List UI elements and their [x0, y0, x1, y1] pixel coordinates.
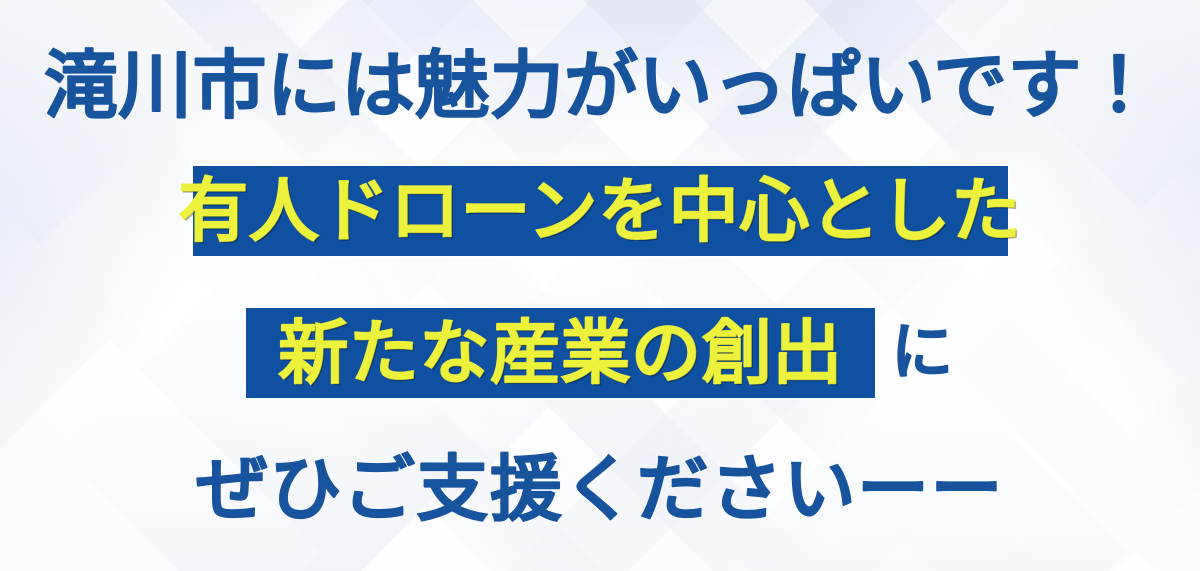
headline-line-3: 新たな産業の創出 に [246, 294, 954, 412]
headline-line-3-particle: に [891, 322, 954, 384]
promo-banner: 滝川市には魅力がいっぱいです！ 有人ドローンを中心とした 新たな産業の創出 に … [0, 0, 1200, 571]
headline-line-2-text: 有人ドローンを中心とした [178, 176, 1021, 246]
headline-line-4-text: ぜひご支援くださいーー [196, 454, 1004, 526]
headline-line-1: 滝川市には魅力がいっぱいです！ [44, 30, 1156, 142]
highlight-box-new-industry: 新たな産業の創出 [246, 308, 875, 398]
headline-line-3-text: 新たな産業の創出 [278, 318, 842, 388]
headline-line-1-text: 滝川市には魅力がいっぱいです！ [44, 49, 1156, 123]
headline-line-4: ぜひご支援くださいーー [196, 434, 1004, 546]
highlight-box-drone: 有人ドローンを中心とした [193, 166, 1008, 256]
headline-block: 滝川市には魅力がいっぱいです！ 有人ドローンを中心とした 新たな産業の創出 に … [0, 0, 1200, 571]
headline-line-2: 有人ドローンを中心とした [193, 152, 1008, 270]
